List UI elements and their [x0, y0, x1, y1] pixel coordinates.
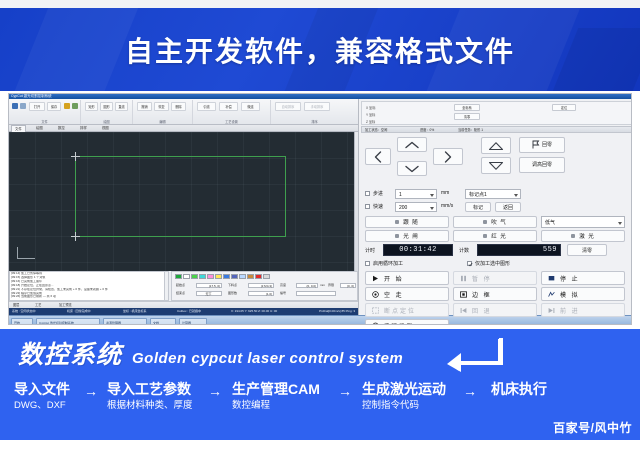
color-swatch[interactable]	[199, 274, 206, 279]
play-icon	[372, 275, 379, 282]
jog-pad: 回零 调高回零	[365, 137, 632, 185]
status-coord: 坐标 : 机床坐标系	[123, 308, 147, 315]
dryrun-button-label: 空 走	[384, 290, 404, 299]
field-value-drop[interactable]: (1724.3)	[248, 283, 274, 288]
tab-view[interactable]: 视图	[99, 125, 112, 132]
status-axes: X: 194.05 Y: 625.50 Z: 00.00 U: 00	[231, 308, 277, 315]
ribbon-group-file: 打开 保存 文件	[9, 100, 81, 124]
flow-step-2: 导入工艺参数 根据材料种类、厚度	[107, 381, 193, 412]
flow-step-4-title: 生成激光运动	[362, 381, 446, 398]
flow-arrow-3: →	[338, 383, 352, 399]
panel-bottom-tabs[interactable]: 图层 工艺 加工预览	[9, 301, 358, 308]
right-arrow-icon	[443, 151, 453, 163]
ribbon-group-edit: 撤销 恢复 删除 编辑	[133, 100, 193, 124]
stop-icon	[548, 275, 555, 282]
breakpoint-button-label: 断点定位	[384, 306, 416, 315]
field-value-height[interactable]: (0, 0.0)	[296, 283, 318, 288]
part-rectangle[interactable]	[75, 156, 286, 237]
log-line: [09:26] 当前图形已刷新 — 共 6 项	[10, 295, 168, 299]
status-led-icon	[483, 234, 487, 238]
page-root: 自主开发软件，兼容格式文件 CypCut 激光切割控制系统 打开 保存 文件 矩…	[0, 0, 640, 449]
coord-button-locate[interactable]: 定位	[552, 104, 576, 111]
ribbon-group-process: 引线 补偿 微连 工艺设置	[193, 100, 271, 124]
flow-arrow-1: →	[84, 383, 98, 399]
prev-icon	[460, 307, 467, 314]
stop-button-label: 停 止	[560, 274, 580, 283]
frame-icon	[460, 291, 467, 298]
coord-label-x: X 坐标	[366, 105, 375, 110]
vertex-marker	[71, 152, 80, 161]
height-home-button-label: 调高回零	[532, 163, 552, 168]
color-swatch[interactable]	[231, 274, 238, 279]
loop-machining-checkbox-row[interactable]: 启用循环加工	[365, 260, 403, 267]
color-swatch[interactable]	[183, 274, 190, 279]
status-ping: PrdCal[0.00m/s] 85 Ping: 3	[319, 308, 355, 315]
loop-settings-label: 循环设置	[384, 322, 414, 326]
ribbon-toolbar[interactable]: 打开 保存 文件 矩形 圆形 直线 绘图 撤销 恢复 删除 编辑 引线 补偿	[9, 99, 358, 125]
ribbon-button[interactable]: 微连	[241, 102, 260, 111]
ribbon-group-label: 工艺设置	[193, 120, 270, 124]
save-icon[interactable]	[20, 103, 26, 109]
left-arrow-icon	[373, 151, 383, 163]
ribbon-button[interactable]: 保存	[47, 102, 61, 111]
coord-label-z: Z 坐标	[366, 119, 375, 124]
chevron-down-icon	[430, 207, 434, 210]
taskbar-item-cypcut[interactable]: CypCut 激光切割控制系统	[36, 318, 100, 326]
pause-icon	[460, 275, 467, 282]
next-icon	[548, 307, 555, 314]
flow-arrow-2: →	[208, 383, 222, 399]
coordinate-bar: X 坐标 Y 坐标 Z 坐标 坐标系 清零 定位	[361, 101, 632, 125]
up-chevron-icon	[405, 141, 419, 149]
flow-step-4: 生成激光运动 控制指令代码	[362, 381, 446, 412]
z-down-button[interactable]	[481, 157, 511, 174]
status-system: 系统 : 空闲状态中	[12, 308, 36, 315]
down-chevron-icon	[405, 165, 419, 173]
ribbon-group-label: 文件	[9, 120, 80, 124]
blow-toggle[interactable]: 吹 气	[453, 216, 537, 228]
field-label-count: 图形数	[228, 291, 237, 296]
rapid-value: 200	[399, 205, 407, 211]
color-swatch[interactable]	[215, 274, 222, 279]
back-button[interactable]: 回 退	[453, 303, 537, 317]
app-tabstrip[interactable]: 文件 绘图 数控 排样 视图	[9, 125, 358, 132]
return-button[interactable]: 返回	[495, 202, 521, 212]
z-down-triangle-icon	[488, 161, 504, 171]
laser-toggle-label: 激 光	[579, 232, 595, 240]
field-value-end[interactable]: 无下	[196, 291, 222, 296]
color-swatch[interactable]	[191, 274, 198, 279]
workflow-steps: 导入文件 DWG、DXF → 导入工艺参数 根据材料种类、厚度 → 生产管理CA…	[14, 381, 628, 427]
tab-nest[interactable]: 排样	[77, 125, 90, 132]
field-label-drop: 下料点	[228, 283, 237, 288]
ribbon-button[interactable]: 圆形	[100, 102, 113, 111]
start-button-label: 开 始	[384, 274, 404, 283]
status-cutbox: Cutbox : 已就绪中	[177, 308, 201, 315]
field-value-limit[interactable]: (0, 0)	[340, 283, 356, 288]
flow-step-1-sub: DWG、DXF	[14, 400, 70, 412]
param-row-rapid: 快速 200 mm/s 标记 返回	[365, 202, 632, 213]
watermark: 百家号/风中竹	[553, 419, 632, 436]
follow-toggle[interactable]: 跟 随	[365, 216, 449, 228]
status-led-icon	[483, 220, 487, 224]
blow-toggle-label: 吹 气	[491, 218, 507, 226]
count-label: 计数	[459, 247, 469, 254]
chevron-down-icon	[618, 222, 622, 225]
jog-down-button[interactable]	[397, 161, 427, 176]
taskbar-item-explorer[interactable]: 资源管理器	[103, 318, 147, 326]
mini-status-progress: 进度：0%	[420, 127, 434, 134]
flow-step-2-sub: 根据材料种类、厚度	[107, 400, 193, 412]
top-banner-title: 自主开发软件，兼容格式文件	[0, 8, 640, 91]
dryrun-button[interactable]: 空 走	[365, 287, 449, 301]
axis-indicator	[17, 247, 39, 265]
layer-palette-panel[interactable]: 起始点 (17.5, 0) 下料点 (1724.3) 高度 (0, 0.0) m…	[171, 271, 358, 301]
taskbar-item-docs[interactable]: 文档	[150, 318, 176, 326]
gas-type-value: 低气	[545, 220, 555, 226]
step-value: 1	[399, 192, 402, 198]
ribbon-button[interactable]: 打开	[29, 102, 45, 111]
ribbon-button[interactable]: 撤销	[137, 102, 152, 111]
status-led-icon	[395, 220, 399, 224]
chevron-down-icon	[430, 194, 434, 197]
stop-button[interactable]: 停 止	[541, 271, 625, 285]
param-row-step: 步进 1 mm 标记点1	[365, 189, 632, 200]
timer-value: 00:31:42	[383, 244, 453, 256]
open-icon[interactable]	[12, 103, 18, 109]
status-led-icon	[571, 234, 575, 238]
color-swatch[interactable]	[207, 274, 214, 279]
taskbar-start-button[interactable]: 开始	[11, 318, 33, 326]
ribbon-button[interactable]: 直线	[115, 102, 128, 111]
step-checkbox[interactable]	[365, 191, 370, 196]
ribbon-group-label: 排序	[271, 120, 358, 124]
clear-counter-button[interactable]: 清零	[567, 244, 607, 256]
application-screenshot: CypCut 激光切割控制系统 打开 保存 文件 矩形 圆形 直线 绘图 撤销 …	[8, 93, 632, 325]
field-label-start: 起始点	[176, 283, 185, 288]
flag-icon	[532, 140, 540, 151]
color-swatch-row[interactable]	[175, 274, 270, 279]
coord-button-zero[interactable]: 清零	[454, 113, 480, 120]
z-up-triangle-icon	[488, 141, 504, 151]
status-machine: 机床 : 回零完成中	[67, 308, 91, 315]
loop-settings-button[interactable]: 循环设置	[365, 319, 449, 325]
dryrun-icon	[372, 291, 379, 298]
forward-button-label: 前 进	[560, 306, 580, 315]
mark-point-combo[interactable]: 标记点1	[465, 189, 521, 199]
jog-right-button[interactable]	[433, 148, 463, 165]
step-unit: mm	[441, 190, 449, 196]
top-white-strip	[0, 0, 640, 8]
redlight-toggle-label: 红 光	[491, 232, 507, 240]
ribbon-group-label: 绘图	[81, 120, 132, 124]
taskbar-item-calc[interactable]: 计算器	[179, 318, 207, 326]
tab-file[interactable]: 文件	[11, 125, 26, 132]
color-swatch[interactable]	[247, 274, 254, 279]
return-arrow-icon	[445, 337, 503, 373]
mark-button[interactable]: 标记	[465, 202, 491, 212]
drawing-canvas[interactable]	[9, 132, 358, 271]
control-panel: X 坐标 Y 坐标 Z 坐标 坐标系 清零 定位 加工状态：空闲 进度：0% 当…	[358, 99, 632, 315]
ribbon-button[interactable]: 手动排序	[304, 102, 330, 111]
flow-arrow-4: →	[463, 383, 477, 399]
mini-status-state: 加工状态：空闲	[365, 127, 387, 134]
redlight-toggle[interactable]: 红 光	[453, 230, 537, 242]
flow-step-3-sub: 数控编程	[232, 400, 320, 412]
follow-toggle-label: 跟 随	[403, 218, 419, 226]
color-swatch[interactable]	[175, 274, 182, 279]
field-label-height: 高度	[280, 283, 286, 288]
flow-step-1: 导入文件 DWG、DXF	[14, 381, 70, 412]
loop-icon	[372, 322, 379, 325]
origin-marker	[71, 232, 80, 241]
coord-button-system[interactable]: 坐标系	[454, 104, 480, 111]
color-swatch[interactable]	[255, 274, 262, 279]
shutter-toggle-label: 光 闸	[403, 232, 419, 240]
color-swatch[interactable]	[263, 274, 270, 279]
mark-point-value: 标记点1	[469, 192, 487, 198]
chevron-down-icon	[514, 194, 518, 197]
flow-step-1-title: 导入文件	[14, 381, 70, 398]
count-value: 559	[477, 244, 561, 256]
rapid-unit: mm/s	[441, 203, 453, 209]
simulate-icon	[548, 291, 555, 298]
ribbon-button[interactable]: 补偿	[219, 102, 238, 111]
breakpoint-icon	[372, 307, 379, 314]
flow-step-3: 生产管理CAM 数控编程	[232, 381, 320, 412]
pause-button[interactable]: 暂 停	[453, 271, 537, 285]
timer-label: 计时	[365, 247, 375, 254]
heading-cn: 数控系统	[18, 335, 122, 371]
app-statusbar: 系统 : 空闲状态中 机床 : 回零完成中 坐标 : 机床坐标系 Cutbox …	[9, 308, 358, 315]
heading-en: Golden cypcut laser control system	[132, 350, 403, 367]
field-value-start[interactable]: (17.5, 0)	[196, 283, 222, 288]
selected-only-checkbox-row[interactable]: 仅加工选中图形	[467, 260, 510, 267]
bottom-banner: 数控系统 Golden cypcut laser control system …	[0, 329, 640, 440]
process-status-strip: 加工状态：空闲 进度：0% 当前任务：矩形 1	[361, 126, 632, 133]
tab-cnc[interactable]: 数控	[55, 125, 68, 132]
flow-step-4-sub: 控制指令代码	[362, 400, 446, 412]
pen-icon[interactable]	[72, 103, 78, 109]
jog-left-button[interactable]	[365, 148, 391, 165]
start-button[interactable]: 开 始	[365, 271, 449, 285]
field-value-number[interactable]	[296, 291, 336, 296]
bottom-white-strip	[0, 440, 640, 449]
saveas-icon[interactable]	[64, 103, 70, 109]
tab-draw[interactable]: 绘图	[33, 125, 46, 132]
field-unit-height: mm	[320, 283, 325, 288]
loop-machining-checkbox[interactable]	[365, 261, 370, 266]
mini-status-task: 当前任务：矩形 1	[458, 127, 483, 134]
color-swatch[interactable]	[239, 274, 246, 279]
step-value-combo[interactable]: 1	[395, 189, 437, 199]
flow-step-5-title: 机床执行	[491, 381, 547, 398]
home-button[interactable]: 回零	[519, 137, 565, 153]
flow-step-3-title: 生产管理CAM	[232, 381, 320, 398]
top-banner: 自主开发软件，兼容格式文件	[0, 8, 640, 91]
ribbon-button[interactable]: 矩形	[85, 102, 98, 111]
ribbon-button[interactable]: 自动排序	[275, 102, 301, 111]
z-up-button[interactable]	[481, 137, 511, 154]
gas-type-combo[interactable]: 低气	[541, 216, 625, 228]
height-home-button[interactable]: 调高回零	[519, 157, 565, 173]
shutter-toggle[interactable]: 光 闸	[365, 230, 449, 242]
status-led-icon	[395, 234, 399, 238]
home-button-label: 回零	[542, 143, 552, 148]
message-log[interactable]: [09:14] 加工已暂停等待 [09:15] 选择图形 1 个对象 [09:1…	[9, 271, 169, 301]
ribbon-button[interactable]: 删除	[171, 102, 186, 111]
flow-step-2-title: 导入工艺参数	[107, 381, 193, 398]
bottom-banner-heading: 数控系统 Golden cypcut laser control system	[18, 335, 403, 371]
pause-button-label: 暂 停	[472, 274, 492, 283]
jog-up-button[interactable]	[397, 137, 427, 152]
ribbon-button[interactable]: 引线	[197, 102, 216, 111]
rapid-checkbox[interactable]	[365, 204, 370, 209]
laser-toggle[interactable]: 激 光	[541, 230, 625, 242]
ribbon-button[interactable]: 恢复	[154, 102, 169, 111]
breakpoint-button[interactable]: 断点定位	[365, 303, 449, 317]
rapid-label: 快速	[373, 203, 383, 210]
field-label-end: 结束点	[176, 291, 185, 296]
flow-step-5: 机床执行	[491, 381, 547, 400]
ribbon-group-sort: 自动排序 手动排序 排序	[271, 100, 358, 124]
field-label-limit: 界限	[328, 283, 334, 288]
rapid-value-combo[interactable]: 200	[395, 202, 437, 212]
simulate-button-label: 模 拟	[560, 290, 580, 299]
simulate-button[interactable]: 模 拟	[541, 287, 625, 301]
color-swatch[interactable]	[223, 274, 230, 279]
selected-only-label: 仅加工选中图形	[475, 260, 510, 267]
frame-button[interactable]: 边 框	[453, 287, 537, 301]
loop-machining-label: 启用循环加工	[373, 260, 403, 267]
step-label: 步进	[373, 190, 383, 197]
field-value-count[interactable]: (1.0)	[248, 291, 274, 296]
back-button-label: 回 退	[472, 306, 492, 315]
ribbon-group-label: 编辑	[133, 120, 192, 124]
os-taskbar[interactable]: 开始 CypCut 激光切割控制系统 资源管理器 文档 计算器	[9, 315, 632, 325]
selected-only-checkbox[interactable]	[467, 261, 472, 266]
coord-label-y: Y 坐标	[366, 112, 375, 117]
field-label-number: 编号	[280, 291, 286, 296]
frame-button-label: 边 框	[472, 290, 492, 299]
log-scrollbar[interactable]	[164, 272, 168, 300]
forward-button[interactable]: 前 进	[541, 303, 625, 317]
ribbon-group-draw: 矩形 圆形 直线 绘图	[81, 100, 133, 124]
